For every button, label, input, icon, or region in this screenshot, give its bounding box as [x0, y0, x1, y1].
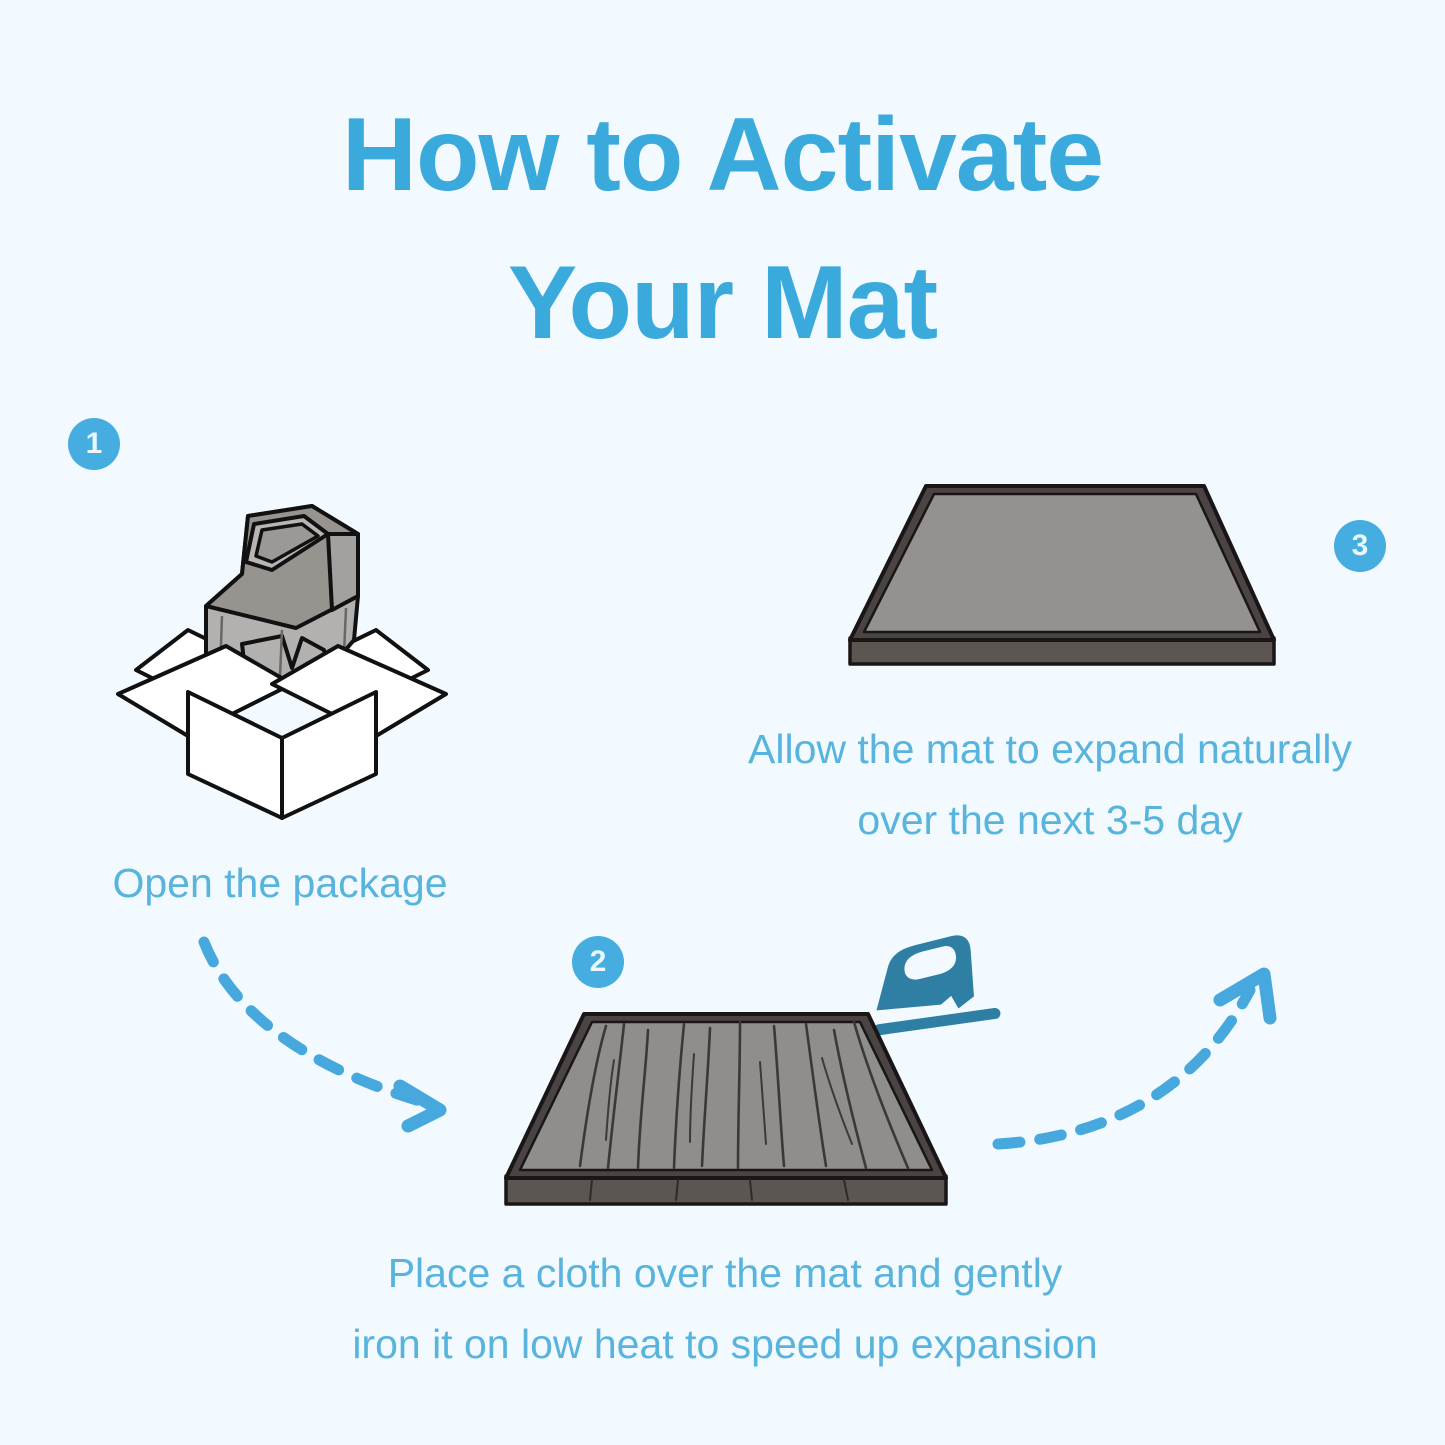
infographic-canvas: How to Activate Your Mat 1 — [0, 0, 1445, 1445]
step-3-caption: Allow the mat to expand naturally over t… — [660, 714, 1440, 855]
step-1-caption: Open the package — [20, 848, 540, 919]
page-title: How to Activate Your Mat — [0, 82, 1445, 377]
step-2-caption: Place a cloth over the mat and gently ir… — [240, 1238, 1210, 1379]
page-title-line-1: How to Activate — [0, 82, 1445, 230]
step-badge-1: 1 — [68, 418, 120, 470]
expanded-mat-illustration — [828, 468, 1294, 680]
dashed-curved-arrow-down-right-icon — [168, 926, 488, 1142]
step-badge-2: 2 — [572, 936, 624, 988]
dashed-curved-arrow-up-right-icon — [978, 956, 1298, 1164]
open-box-illustration — [96, 478, 468, 826]
mat-with-cloth-illustration — [488, 1000, 964, 1222]
step-badge-3: 3 — [1334, 520, 1386, 572]
page-title-line-2: Your Mat — [0, 230, 1445, 378]
